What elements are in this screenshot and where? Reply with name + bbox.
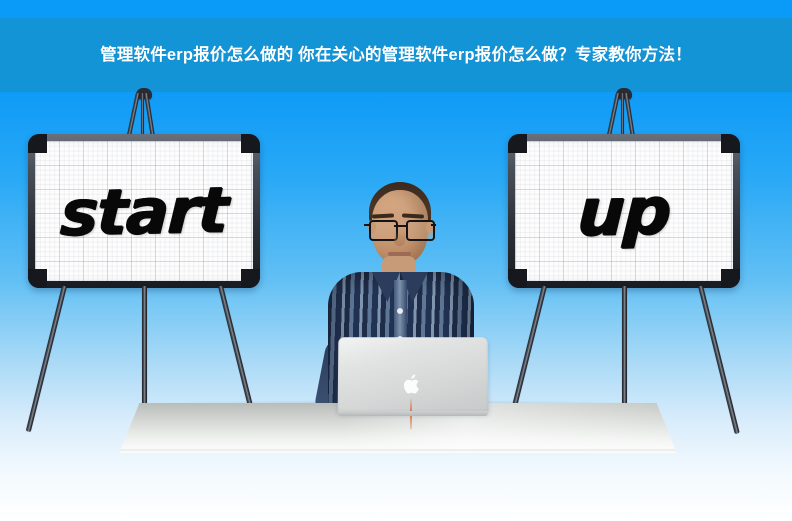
board-corner-br-left xyxy=(241,269,260,288)
whiteboard-left: start xyxy=(28,134,260,288)
page-title: 管理软件erp报价怎么做的 你在关心的管理软件erp报价怎么做？专家教你方法！ xyxy=(20,42,772,68)
board-corner-tl-left xyxy=(28,134,47,153)
easel-leg-left-outer-l xyxy=(26,285,67,432)
top-accent-strip xyxy=(0,0,792,18)
board-word-right: up xyxy=(576,172,672,251)
easel-upper-leg-right-a xyxy=(606,93,619,139)
easel-leg-right-center xyxy=(622,286,627,410)
laptop-lid xyxy=(338,337,489,413)
shirt-button xyxy=(397,308,403,314)
apple-logo-icon xyxy=(403,373,423,396)
board-word-left: start xyxy=(59,173,229,249)
board-paper-right: up xyxy=(515,141,733,281)
board-corner-tl-right xyxy=(508,134,527,153)
desk-front-edge xyxy=(120,449,676,453)
laptop-hinge xyxy=(338,411,488,416)
board-corner-tr-left xyxy=(241,134,260,153)
glasses-temple-right xyxy=(431,224,436,226)
easel-upper-leg-left-b xyxy=(144,93,155,139)
easel-upper-leg-left-a xyxy=(126,93,139,139)
easel-leg-left-center xyxy=(142,286,147,412)
glasses-bridge xyxy=(394,225,406,227)
easel-upper-leg-right-b xyxy=(624,93,635,139)
easel-leg-right-outer-r xyxy=(698,285,740,434)
easel-left: start xyxy=(28,88,260,418)
board-corner-bl-right xyxy=(508,269,527,288)
board-corner-br-right xyxy=(721,269,740,288)
board-corner-tr-right xyxy=(721,134,740,153)
person-nose xyxy=(394,230,405,246)
board-corner-bl-left xyxy=(28,269,47,288)
easel-right: up xyxy=(508,88,740,418)
poster-canvas: 管理软件erp报价怎么做的 你在关心的管理软件erp报价怎么做？专家教你方法！ … xyxy=(0,0,792,521)
header-banner: 管理软件erp报价怎么做的 你在关心的管理软件erp报价怎么做？专家教你方法！ xyxy=(0,18,792,92)
laptop[interactable] xyxy=(338,337,488,417)
board-paper-left: start xyxy=(35,141,253,281)
whiteboard-right: up xyxy=(508,134,740,288)
